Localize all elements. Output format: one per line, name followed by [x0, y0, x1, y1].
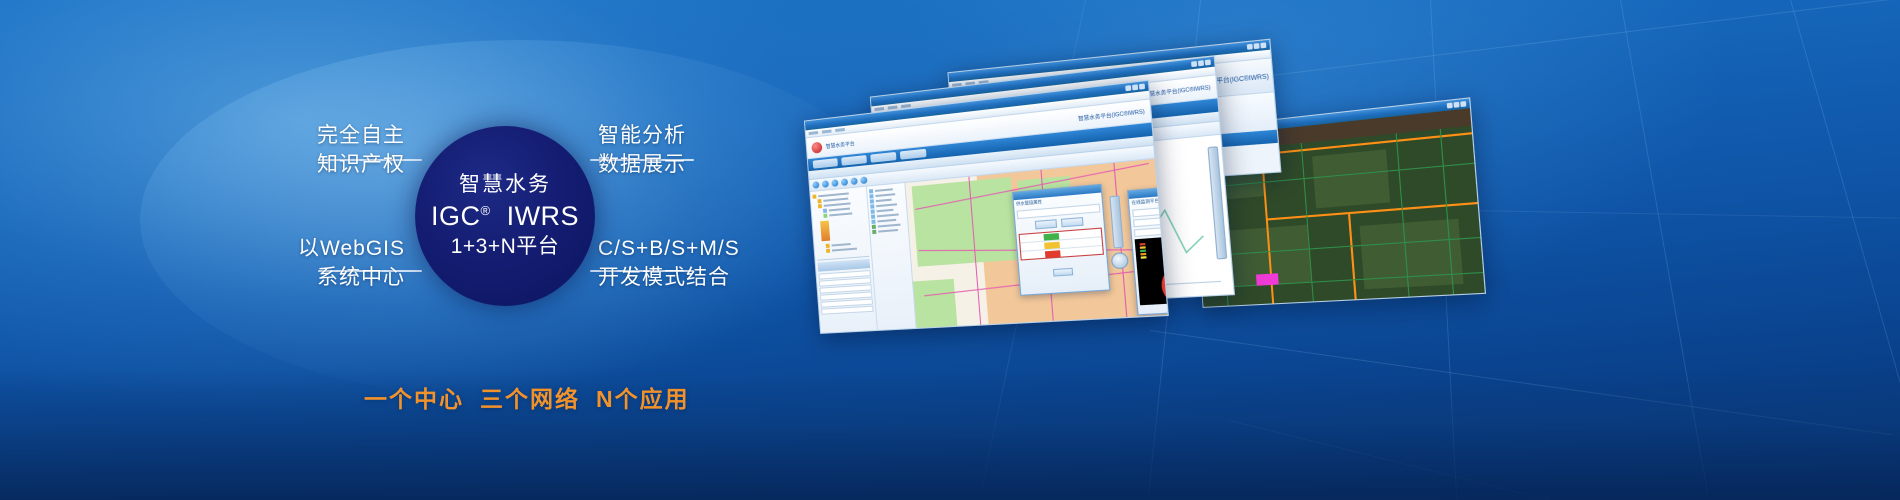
hub-platform-label: 1+3+N平台 — [451, 234, 560, 259]
close-icon[interactable] — [1460, 101, 1466, 107]
feature-top-right: 智能分析 数据展示 — [598, 122, 686, 180]
floor-gradient — [0, 370, 1900, 500]
feature-bottom-left: 以WebGIS 系统中心 — [298, 235, 405, 293]
clear-button[interactable] — [1061, 217, 1084, 227]
tool-label — [875, 193, 895, 197]
feature-top-right-line1: 智能分析 — [598, 122, 686, 151]
tree-label — [831, 243, 850, 247]
grid-line — [1790, 0, 1900, 481]
layer-icon — [826, 249, 830, 253]
feature-top-right-line2: 数据展示 — [598, 151, 686, 180]
toolbar-icon[interactable] — [822, 180, 829, 188]
tool-icon — [871, 220, 875, 224]
tagline: 一个中心三个网络N个应用 — [364, 380, 706, 414]
legend-swatch — [1140, 243, 1146, 246]
layer-icon — [826, 244, 830, 248]
map-highlight-marker — [1256, 273, 1279, 286]
tool-icon — [870, 204, 874, 208]
toolbar-icon[interactable] — [831, 179, 838, 187]
window-front[interactable]: 智慧水务平台 智慧水务平台(IGC®IWRS) — [804, 80, 1169, 334]
minimize-icon[interactable] — [1247, 44, 1253, 50]
grid-line — [1150, 330, 1893, 435]
layer-icon — [812, 194, 816, 198]
toolbar-icon[interactable] — [812, 181, 819, 189]
nav-button[interactable] — [841, 155, 867, 166]
hero-banner: 完全自主 知识产权 以WebGIS 系统中心 智能分析 数据展示 C/S+B/S… — [0, 0, 1900, 500]
layer-icon — [823, 209, 827, 213]
hub-product-prefix: IGC — [431, 201, 481, 231]
tagline-part2: 三个网络 — [480, 386, 580, 412]
menu-item[interactable] — [822, 129, 832, 133]
feature-bottom-left-line2: 系统中心 — [298, 264, 405, 293]
window-middle-title: 智慧水务平台(IGC®IWRS) — [1144, 83, 1211, 98]
tool-label — [878, 229, 898, 233]
tagline-part1: 一个中心 — [364, 386, 464, 412]
tool-label — [877, 219, 896, 223]
dialog-pipe-attributes[interactable]: 供水管段属性 — [1012, 184, 1110, 296]
maximize-icon[interactable] — [1132, 84, 1138, 90]
registered-trademark-icon: ® — [480, 203, 490, 218]
feature-bottom-right-line1: C/S+B/S+M/S — [598, 235, 740, 264]
layer-icon — [823, 214, 827, 218]
layer-icon — [818, 199, 822, 203]
central-hub-circle: 智慧水务 IGC® IWRS 1+3+N平台 — [415, 126, 595, 306]
maximize-icon[interactable] — [1254, 43, 1260, 49]
map-zone-green — [913, 279, 958, 332]
minimize-icon[interactable] — [1447, 103, 1453, 109]
legend-swatch — [1140, 246, 1146, 249]
map-zone-green — [912, 177, 1018, 267]
maximize-icon[interactable] — [1198, 60, 1204, 66]
window-controls[interactable] — [1191, 59, 1211, 67]
tool-label — [876, 199, 892, 202]
tool-label — [875, 188, 893, 192]
grid-line — [1620, 0, 1708, 492]
map-road-main — [1348, 212, 1358, 307]
window-front-brand: 智慧水务平台 — [826, 140, 855, 150]
layer-icon — [818, 204, 822, 208]
hub-title: 智慧水务 — [459, 173, 551, 196]
nav-button[interactable] — [813, 158, 838, 169]
window-controls[interactable] — [1125, 83, 1145, 91]
legend-swatch — [1140, 253, 1146, 256]
result-table[interactable] — [1019, 228, 1104, 261]
close-icon[interactable] — [1260, 42, 1266, 48]
gis-map-canvas[interactable]: 供水管段属性 在线监 — [905, 159, 1168, 332]
window-controls[interactable] — [1247, 42, 1267, 49]
window-front-title: 智慧水务平台(IGC®IWRS) — [1078, 107, 1145, 122]
toolbar-icon[interactable] — [841, 178, 848, 186]
feature-top-left-line1: 完全自主 — [317, 122, 405, 151]
pie-legend — [1137, 241, 1165, 271]
minimize-icon[interactable] — [1191, 61, 1197, 67]
hub-product-name: IGC® IWRS — [431, 202, 579, 232]
feature-top-left-line2: 知识产权 — [317, 151, 405, 180]
window-controls[interactable] — [1447, 101, 1467, 109]
close-icon[interactable] — [1205, 59, 1211, 65]
nav-button[interactable] — [900, 149, 927, 160]
legend-swatch — [1140, 250, 1146, 253]
tree-label — [829, 212, 852, 216]
minimize-icon[interactable] — [1125, 85, 1131, 91]
hub-product-suffix: IWRS — [507, 201, 580, 231]
legend-ramp — [820, 221, 830, 242]
water-drop-logo-icon — [811, 141, 822, 153]
tagline-part3: N个应用 — [596, 386, 690, 412]
toolbar-icon[interactable] — [851, 177, 858, 185]
close-icon[interactable] — [1139, 83, 1145, 89]
maximize-icon[interactable] — [1453, 102, 1459, 108]
feature-bottom-right-line2: 开发模式结合 — [598, 264, 740, 293]
map-block — [1312, 149, 1390, 208]
dialog-pipe-footer[interactable] — [1019, 259, 1108, 284]
query-button[interactable] — [1035, 219, 1057, 229]
feature-top-left: 完全自主 知识产权 — [317, 122, 405, 180]
menu-item[interactable] — [809, 131, 819, 135]
menu-item[interactable] — [835, 128, 845, 132]
tool-icon — [872, 225, 876, 229]
tool-label — [877, 209, 894, 213]
nav-button[interactable] — [870, 152, 896, 163]
tool-icon — [871, 214, 875, 218]
grid-line — [1230, 420, 1880, 500]
tree-label — [832, 248, 857, 252]
legend-swatch — [1141, 256, 1147, 259]
tool-icon — [869, 194, 873, 198]
toolbar-icon[interactable] — [860, 176, 867, 184]
tool-icon — [872, 230, 876, 234]
feature-bottom-right: C/S+B/S+M/S 开发模式结合 — [598, 235, 740, 293]
tool-icon — [870, 199, 874, 203]
tool-icon — [869, 189, 873, 193]
feature-bottom-left-line1: 以WebGIS — [298, 235, 405, 264]
tool-icon — [871, 209, 875, 213]
